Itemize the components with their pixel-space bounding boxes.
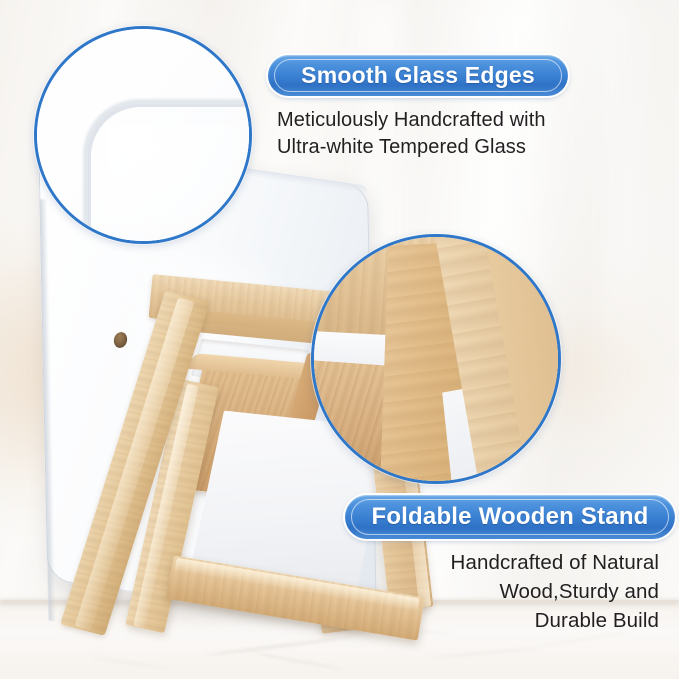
badge-foldable-wooden-stand: Foldable Wooden Stand — [345, 495, 675, 539]
badge-smooth-glass-edges-label: Smooth Glass Edges — [301, 62, 535, 89]
caption-line: Handcrafted of Natural — [451, 548, 659, 577]
magnifier-wood-joint-content — [314, 237, 558, 481]
caption-smooth-glass-edges: Meticulously Handcrafted with Ultra-whit… — [277, 107, 546, 161]
badge-smooth-glass-edges: Smooth Glass Edges — [268, 55, 568, 96]
magnifier-wood-joint — [311, 234, 561, 484]
caption-line: Wood,Sturdy and — [451, 577, 659, 606]
infographic-canvas: Smooth Glass Edges Meticulously Handcraf… — [0, 0, 679, 679]
glass-corner-shine — [107, 125, 252, 244]
magnifier-glass-corner — [34, 26, 252, 244]
magnifier-glass-corner-content — [37, 29, 249, 241]
caption-line: Ultra-white Tempered Glass — [277, 134, 546, 161]
caption-line: Meticulously Handcrafted with — [277, 107, 546, 134]
caption-foldable-wooden-stand: Handcrafted of Natural Wood,Sturdy and D… — [451, 548, 659, 635]
badge-foldable-wooden-stand-label: Foldable Wooden Stand — [371, 503, 648, 531]
caption-line: Durable Build — [451, 606, 659, 635]
